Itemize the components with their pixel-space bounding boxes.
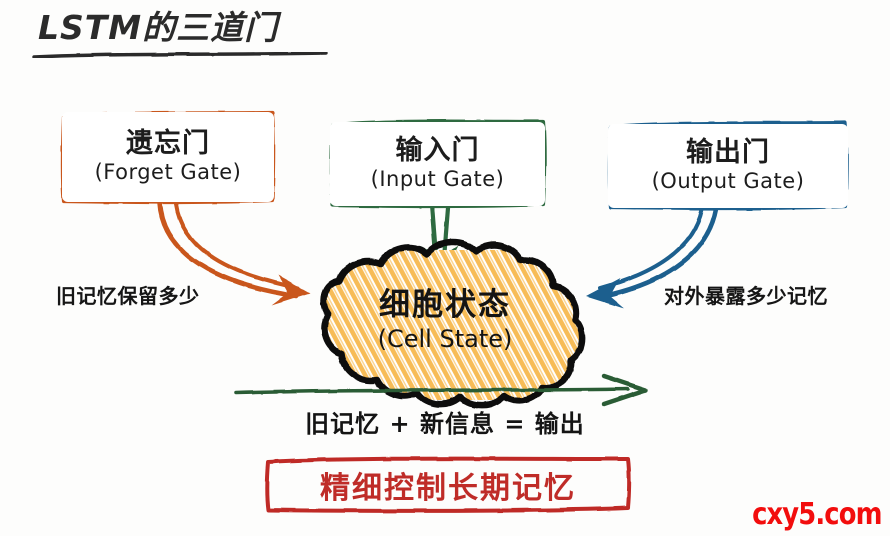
gate-forget-label-cn: 遗忘门 [126,130,210,158]
caption-forget-gate: 旧记忆保留多少 [56,280,200,309]
gate-card-input[interactable]: 输入门 (Input Gate) [330,122,545,206]
gate-output-label-cn: 输出门 [686,139,770,167]
cell-output-flow-arrow [236,376,646,404]
page-title-text: LSTM的三道门 [38,10,358,46]
cell-state-label: 细胞状态 (Cell State) [300,288,590,354]
title-underline [34,53,326,57]
gate-card-output[interactable]: 输出门 (Output Gate) [608,124,848,208]
cell-state-label-en: (Cell State) [300,325,590,354]
conclusion-text: 精细控制长期记忆 [320,463,576,507]
input-to-cell-arrow [421,208,458,280]
page-title: LSTM的三道门 [38,10,358,46]
conclusion-card: 精细控制长期记忆 [264,459,632,511]
diagram-canvas: LSTM的三道门 遗忘门 (Forget Gate) 输入门 (Input Ga… [0,0,890,536]
diagram-vector-layer [0,0,890,536]
gate-input-label-cn: 输入门 [396,137,480,165]
output-formula-text: 旧记忆 + 新信息 = 输出 [0,404,890,439]
gate-output-label-en: (Output Gate) [652,169,805,193]
cell-state-label-cn: 细胞状态 [300,288,590,322]
gate-input-label-en: (Input Gate) [371,167,505,191]
caption-output-gate: 对外暴露多少记忆 [664,280,828,309]
watermark: cxy5.com [752,497,882,532]
gate-card-forget[interactable]: 遗忘门 (Forget Gate) [62,112,274,202]
gate-forget-label-en: (Forget Gate) [95,160,242,184]
